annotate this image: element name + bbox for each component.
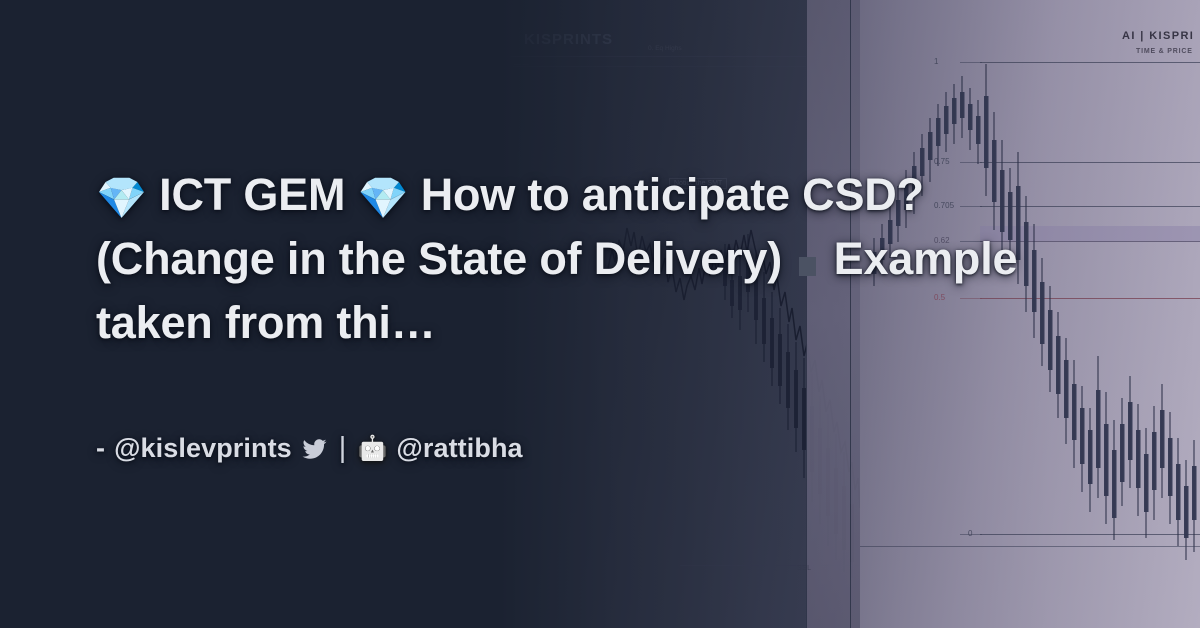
gem-icon-left: 💎 (96, 175, 147, 221)
robot-icon: 🤖 (357, 437, 387, 461)
headline-part-1: ICT GEM (147, 169, 358, 220)
author-handle[interactable]: @kislevprints (114, 433, 292, 464)
card-content: 💎 ICT GEM 💎 How to anticipate CSD? (Chan… (0, 0, 1200, 628)
missing-glyph-icon (799, 257, 816, 276)
attribution-dash: - (96, 433, 105, 464)
attribution-separator: | (337, 432, 349, 465)
gem-icon-right: 💎 (358, 175, 409, 221)
attribution-line: - @kislevprints | 🤖 @rattibha (96, 432, 1104, 465)
source-handle[interactable]: @rattibha (396, 433, 522, 464)
twitter-bird-icon (301, 437, 328, 461)
page-title: 💎 ICT GEM 💎 How to anticipate CSD? (Chan… (96, 163, 1104, 355)
social-share-card: KISPRINTS 0. Eq Highs — — Notice the SMT… (0, 0, 1200, 628)
